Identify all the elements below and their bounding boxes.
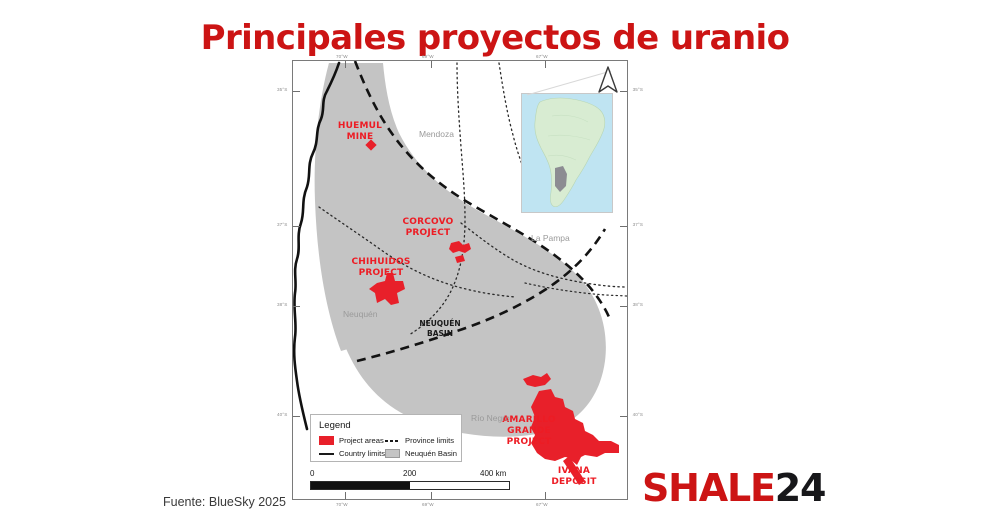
lon-tick-mark xyxy=(431,61,432,68)
lat-tick-label: 37°S xyxy=(277,222,287,227)
lon-tick-label: 70°W xyxy=(336,502,348,507)
brand-text-shale: SHALE xyxy=(642,466,775,510)
basin-label: NEUQUÉN BASIN xyxy=(409,319,471,338)
project-label-corcovo: CORCOVO PROJECT xyxy=(397,217,459,239)
inset-graphic xyxy=(522,94,613,213)
legend-item-province-limits: Province limits xyxy=(385,436,454,445)
lon-tick-mark xyxy=(431,492,432,499)
project-label-ivana: IVANA DEPOSIT xyxy=(543,466,605,488)
scale-bar-segment-empty xyxy=(410,482,509,489)
scale-tick-label: 0 xyxy=(310,469,314,478)
legend-label: Province limits xyxy=(405,436,454,445)
lat-tick-label: 35°S xyxy=(633,87,643,92)
project-label-chihuidos: CHIHUIDOS PROJECT xyxy=(343,257,419,279)
lat-tick-label: 38°S xyxy=(633,302,643,307)
neuquen-basin-swatch-icon xyxy=(385,449,400,458)
lon-tick-mark xyxy=(545,492,546,499)
map-panel: 70°W 69°W 67°W 70°W 69°W 67°W 35°S 37°S … xyxy=(292,60,628,500)
legend-row: Project areas Province limits xyxy=(319,434,454,447)
lat-tick-mark xyxy=(620,91,627,92)
lon-tick-label: 69°W xyxy=(422,54,434,59)
lon-tick-label: 70°W xyxy=(336,54,348,59)
legend-item-country-limits: Country limits xyxy=(319,449,385,458)
infographic-root: Principales proyectos de uranio xyxy=(0,0,990,520)
lat-tick-mark xyxy=(293,226,300,227)
lat-tick-label: 38°S xyxy=(277,302,287,307)
map-legend: Legend Project areas Province limits Cou… xyxy=(310,414,462,462)
scale-bar-graphic xyxy=(310,481,510,490)
province-label-mendoza: Mendoza xyxy=(419,129,454,139)
lon-tick-label: 67°W xyxy=(536,54,548,59)
legend-label: Country limits xyxy=(339,449,385,458)
lat-tick-label: 40°S xyxy=(633,412,643,417)
lon-tick-label: 67°W xyxy=(536,502,548,507)
legend-title: Legend xyxy=(319,420,454,431)
lon-tick-label: 69°W xyxy=(422,502,434,507)
scale-tick-label: 400 km xyxy=(480,469,506,478)
project-areas-swatch-icon xyxy=(319,436,334,445)
lat-tick-mark xyxy=(293,416,300,417)
source-note: Fuente: BlueSky 2025 xyxy=(163,495,286,509)
north-arrow-icon xyxy=(597,65,619,95)
scale-tick-label: 200 xyxy=(403,469,416,478)
country-limits-swatch-icon xyxy=(319,449,334,458)
shale24-logo: SHALE24 xyxy=(642,466,825,510)
inset-locator-map xyxy=(521,93,613,213)
legend-item-project-areas: Project areas xyxy=(319,436,385,445)
province-label-rio-negro: Río Negro xyxy=(471,413,510,423)
brand-text-24: 24 xyxy=(775,466,825,510)
lat-tick-mark xyxy=(293,91,300,92)
lat-tick-mark xyxy=(620,416,627,417)
legend-row: Country limits Neuquén Basin xyxy=(319,447,454,460)
scale-bar-labels: 0 200 400 km xyxy=(310,469,518,481)
lat-tick-mark xyxy=(293,306,300,307)
lat-tick-label: 35°S xyxy=(277,87,287,92)
province-limits-swatch-icon xyxy=(385,436,400,445)
province-label-neuquen: Neuquén xyxy=(343,309,378,319)
province-label-la-pampa: La Pampa xyxy=(531,233,570,243)
lon-tick-mark xyxy=(345,492,346,499)
map-scale-bar: 0 200 400 km xyxy=(310,469,518,490)
legend-item-neuquen-basin: Neuquén Basin xyxy=(385,449,457,458)
scale-bar-segment-filled xyxy=(311,482,410,489)
page-title: Principales proyectos de uranio xyxy=(0,18,990,58)
lat-tick-mark xyxy=(620,306,627,307)
legend-label: Project areas xyxy=(339,436,384,445)
lat-tick-mark xyxy=(620,226,627,227)
legend-label: Neuquén Basin xyxy=(405,449,457,458)
lon-tick-mark xyxy=(345,61,346,68)
project-label-huemul: HUEMUL MINE xyxy=(329,121,391,143)
lat-tick-label: 37°S xyxy=(633,222,643,227)
lat-tick-label: 40°S xyxy=(277,412,287,417)
